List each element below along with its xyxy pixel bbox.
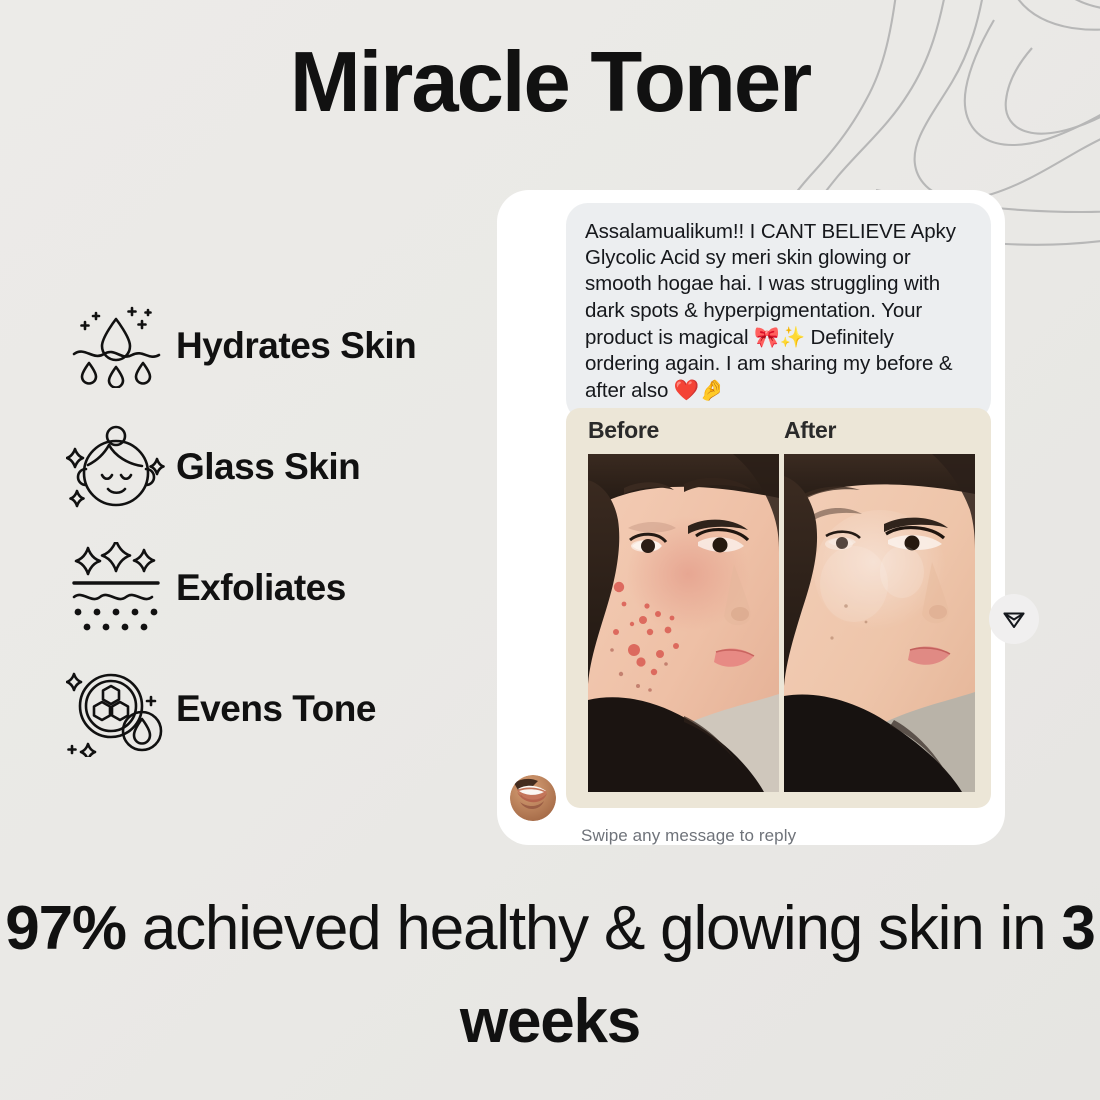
stat-percentage: 97%	[5, 894, 126, 963]
sparkle-skin-layers-icon	[62, 542, 170, 634]
feature-item-glass-skin: Glass Skin	[62, 406, 492, 527]
after-label: After	[784, 417, 836, 444]
poster-canvas: Miracle Toner	[0, 0, 1100, 1100]
water-drop-hydration-icon	[62, 304, 170, 388]
feature-item-hydrates-skin: Hydrates Skin	[62, 285, 492, 406]
after-photo	[784, 454, 975, 792]
chat-message-text: Assalamualikum!! I CANT BELIEVE Apky Gly…	[585, 219, 972, 404]
before-photo	[588, 454, 779, 792]
hand-emoji: 🤌	[699, 378, 724, 402]
headline-middle-text: achieved healthy & glowing skin in	[126, 894, 1062, 963]
before-after-panel[interactable]: Before After	[566, 408, 991, 808]
chat-screenshot-card: Assalamualikum!! I CANT BELIEVE Apky Gly…	[497, 190, 1005, 845]
bottom-headline: 97% achieved healthy & glowing skin in 3…	[0, 882, 1100, 1068]
feature-item-evens-tone: Evens Tone	[62, 648, 492, 769]
avatar[interactable]	[510, 775, 556, 821]
feature-label: Glass Skin	[170, 446, 360, 488]
heart-emoji: ❤️	[674, 378, 699, 402]
page-title: Miracle Toner	[0, 38, 1100, 127]
before-label: Before	[588, 417, 784, 444]
send-paper-plane-icon[interactable]	[989, 594, 1039, 644]
before-after-photos	[588, 454, 976, 792]
honeycomb-droplet-icon	[62, 661, 170, 757]
feature-label: Exfoliates	[170, 567, 346, 609]
swipe-to-reply-note: Swipe any message to reply	[581, 826, 796, 846]
sparkles-emoji: ✨	[779, 325, 804, 349]
feature-item-exfoliates: Exfoliates	[62, 527, 492, 648]
feature-label: Hydrates Skin	[170, 325, 416, 367]
feature-list: Hydrates Skin	[62, 285, 492, 769]
chat-message-bubble[interactable]: Assalamualikum!! I CANT BELIEVE Apky Gly…	[566, 203, 991, 421]
bow-emoji: 🎀	[754, 325, 779, 349]
before-after-labels: Before After	[588, 417, 977, 444]
glowing-face-icon	[62, 421, 170, 513]
feature-label: Evens Tone	[170, 688, 376, 730]
